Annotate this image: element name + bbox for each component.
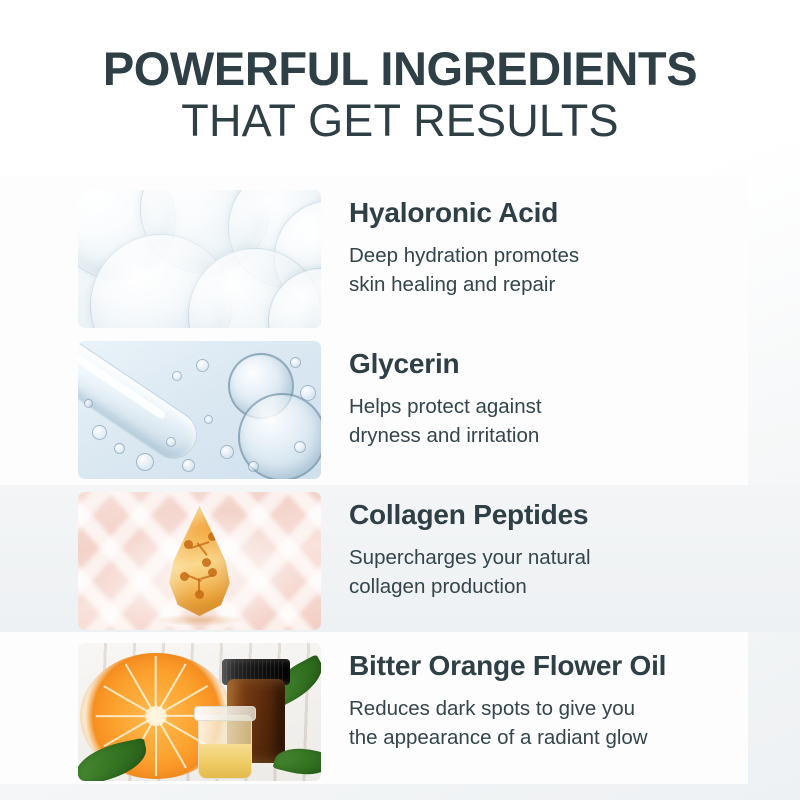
ingredient-image-collagen-peptides [78,492,321,630]
ingredient-description-line-1: Helps protect against [349,392,679,421]
ingredient-image-hyaloronic-acid [78,190,321,328]
ingredient-title: Bitter Orange Flower Oil [349,651,758,682]
ingredient-text-glycerin: Glycerin Helps protect against dryness a… [321,341,758,450]
ingredient-row-glycerin: Glycerin Helps protect against dryness a… [78,341,758,479]
pipette-gel-icon [78,341,321,479]
ingredient-title: Hyaloronic Acid [349,198,758,229]
page-title: POWERFUL INGREDIENTS THAT GET RESULTS [0,44,800,146]
ingredient-title: Glycerin [349,349,758,380]
ingredient-description-line-1: Supercharges your natural [349,543,679,572]
ingredient-description-line-2: collagen production [349,572,679,601]
ingredient-description-line-2: dryness and irritation [349,421,679,450]
ingredient-text-bitter-orange-flower-oil: Bitter Orange Flower Oil Reduces dark sp… [321,643,758,752]
ingredient-row-bitter-orange-flower-oil: Bitter Orange Flower Oil Reduces dark sp… [78,643,758,781]
ingredient-row-hyaloronic-acid: Hyaloronic Acid Deep hydration promotes … [78,190,758,328]
page-title-line-2: THAT GET RESULTS [0,96,800,146]
ingredient-description-line-1: Deep hydration promotes [349,241,679,270]
ingredient-row-collagen-peptides: Collagen Peptides Supercharges your natu… [78,492,758,630]
serum-droplet-icon [78,492,321,630]
ingredients-infographic: POWERFUL INGREDIENTS THAT GET RESULTS Hy… [0,0,800,800]
ingredient-description-line-2: the appearance of a radiant glow [349,723,679,752]
ingredient-text-hyaloronic-acid: Hyaloronic Acid Deep hydration promotes … [321,190,758,299]
water-bubbles-icon [78,190,321,328]
ingredient-title: Collagen Peptides [349,500,758,531]
ingredient-description-line-1: Reduces dark spots to give you [349,694,679,723]
ingredient-description-line-2: skin healing and repair [349,270,679,299]
orange-oil-bottle-icon [78,643,321,781]
ingredient-text-collagen-peptides: Collagen Peptides Supercharges your natu… [321,492,758,601]
ingredient-image-glycerin [78,341,321,479]
page-title-line-1: POWERFUL INGREDIENTS [0,44,800,94]
ingredient-image-bitter-orange-flower-oil [78,643,321,781]
